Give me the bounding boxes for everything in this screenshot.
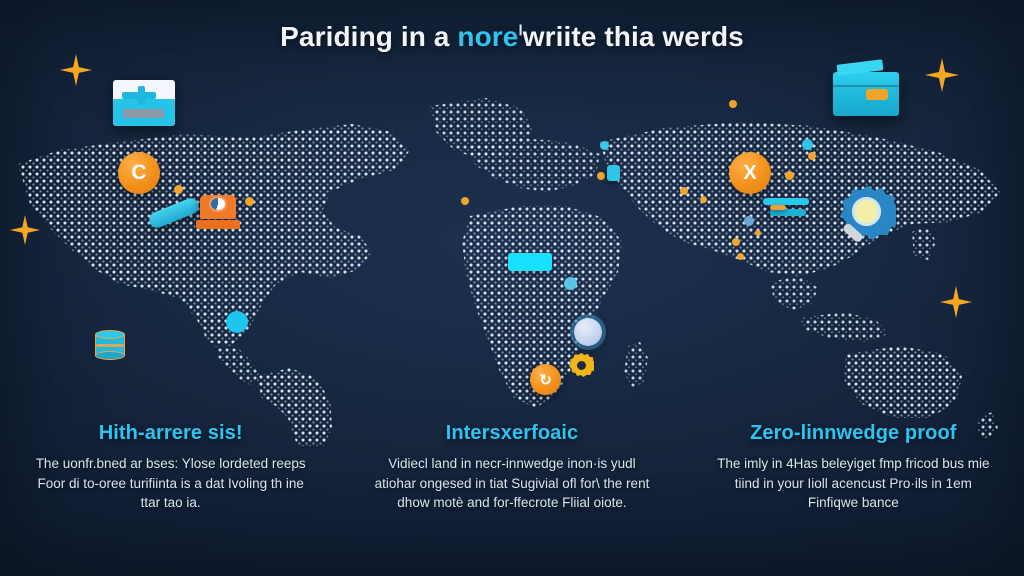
feature-column: Zero-linnwedge proof The imly in 4Has be… bbox=[683, 422, 1024, 562]
node-dot bbox=[174, 185, 183, 194]
card-tick bbox=[138, 86, 145, 105]
coin-glyph: ↻ bbox=[539, 371, 552, 389]
title-highlight: nore bbox=[457, 21, 518, 52]
data-bar bbox=[607, 165, 620, 181]
node-puck-icon[interactable] bbox=[574, 318, 602, 346]
landmass-madagascar bbox=[624, 342, 648, 388]
infographic-canvas: Pariding in a norelwriite thia werds bbox=[0, 0, 1024, 576]
data-bar bbox=[763, 198, 809, 205]
database-icon[interactable] bbox=[95, 330, 125, 360]
feature-column: Intersxerfoaic Vidiecl land in necr-innw… bbox=[341, 422, 682, 562]
data-bar bbox=[770, 209, 806, 216]
data-bar bbox=[770, 205, 786, 210]
database-bottom bbox=[95, 351, 125, 360]
node-dot bbox=[600, 141, 609, 150]
wallet-seam bbox=[833, 85, 899, 87]
landmass-north-america bbox=[18, 124, 410, 346]
title-text-after: wriite thia werds bbox=[523, 21, 744, 52]
node-dot bbox=[755, 230, 761, 236]
wallet-icon[interactable] bbox=[833, 72, 899, 116]
node-dot bbox=[732, 238, 740, 246]
page-title: Pariding in a norelwriite thia werds bbox=[0, 21, 1024, 53]
laptop-base bbox=[196, 220, 240, 229]
landmass-indonesia bbox=[800, 312, 888, 342]
coin-icon[interactable]: X bbox=[729, 152, 771, 194]
feature-column: Hith-arrere sis! The uonfr.bned ar bses:… bbox=[0, 422, 341, 562]
node-dot bbox=[729, 100, 737, 108]
laptop-body bbox=[200, 195, 237, 219]
node-dot bbox=[226, 311, 248, 333]
node-dot bbox=[597, 172, 605, 180]
coin-glyph: X bbox=[743, 162, 756, 185]
card-stripe bbox=[123, 109, 164, 118]
feature-columns: Hith-arrere sis! The uonfr.bned ar bses:… bbox=[0, 422, 1024, 562]
node-dot bbox=[245, 197, 254, 206]
landmass-japan bbox=[912, 226, 936, 260]
data-bar bbox=[508, 253, 552, 271]
landmass-europe bbox=[470, 138, 600, 192]
database-band bbox=[96, 344, 124, 348]
laptop-icon[interactable] bbox=[196, 195, 240, 229]
node-dot bbox=[461, 197, 469, 205]
node-dot bbox=[700, 196, 707, 203]
column-heading: Zero-linnwedge proof bbox=[709, 422, 998, 445]
column-body: The uonfr.bned ar bses: Ylose lordeted r… bbox=[26, 454, 315, 513]
magnifier-icon[interactable] bbox=[840, 186, 896, 242]
node-dot bbox=[802, 139, 813, 150]
node-dot bbox=[564, 277, 577, 290]
landmass-central-america bbox=[215, 346, 262, 386]
node-dot bbox=[680, 187, 688, 195]
column-body: Vidiecl land in necr-innwedge inon·is yu… bbox=[367, 454, 656, 513]
column-body: The imly in 4Has beleyiget fmp fricod bu… bbox=[709, 454, 998, 513]
landmass-southeast-asia bbox=[770, 276, 818, 310]
coin-icon[interactable]: C bbox=[118, 152, 160, 194]
wallet-chip bbox=[866, 89, 888, 100]
coin-icon[interactable]: ↻ bbox=[530, 364, 561, 395]
node-dot bbox=[785, 171, 794, 180]
laptop-dial bbox=[211, 198, 226, 210]
node-dot bbox=[737, 253, 744, 260]
card-icon[interactable] bbox=[113, 80, 175, 126]
title-text-before: Pariding in a bbox=[280, 21, 457, 52]
coin-glyph: C bbox=[131, 161, 146, 185]
node-dot bbox=[808, 152, 816, 160]
column-heading: Hith-arrere sis! bbox=[26, 422, 315, 445]
landmass-australia bbox=[844, 346, 962, 418]
database-top bbox=[95, 330, 125, 339]
node-dot bbox=[744, 216, 754, 226]
column-heading: Intersxerfoaic bbox=[367, 422, 656, 445]
